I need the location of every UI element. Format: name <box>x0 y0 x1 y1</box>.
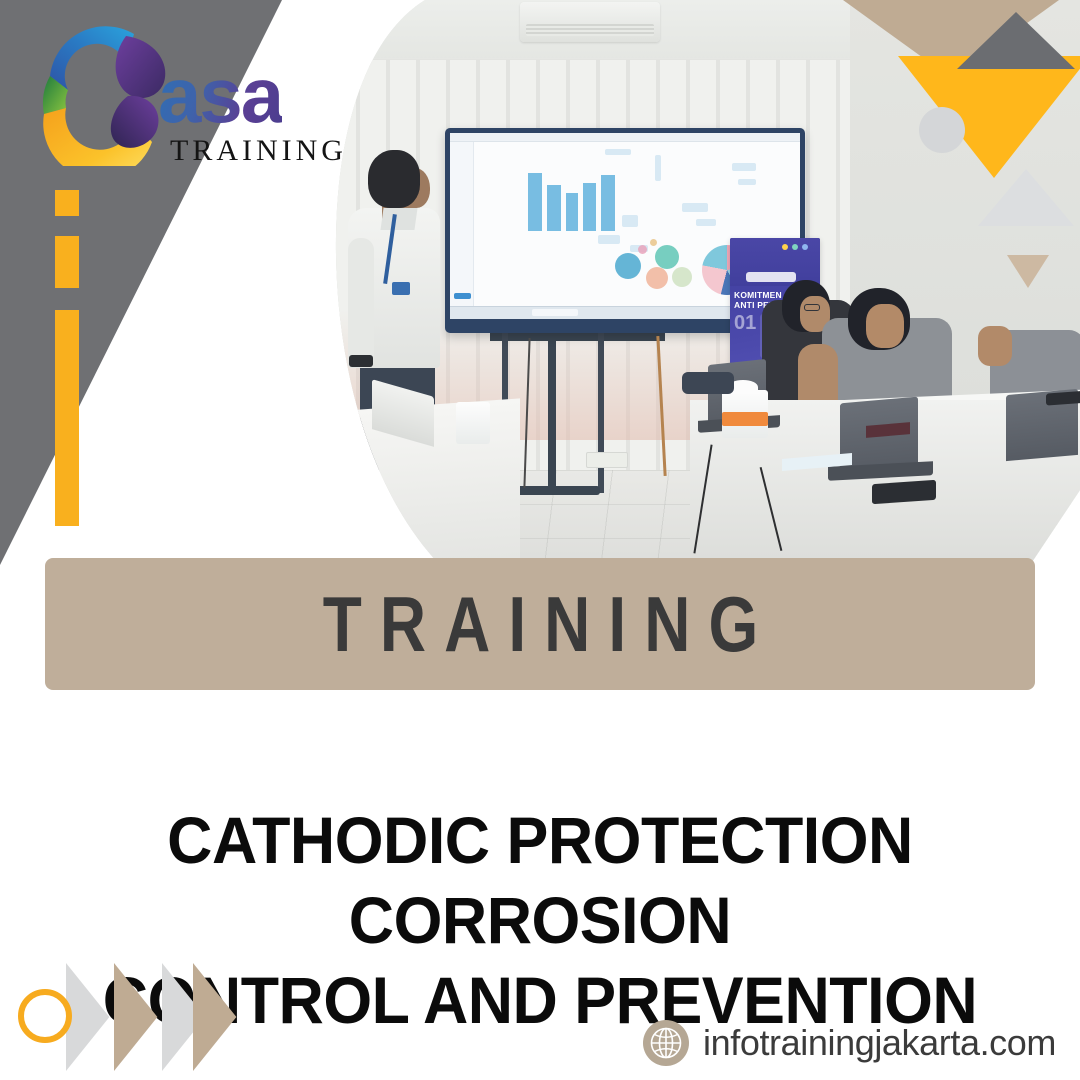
screen-bubble-3 <box>646 267 668 289</box>
participant-2-face <box>866 304 904 348</box>
presenter-head <box>368 150 420 208</box>
chevron-shape-4 <box>193 963 263 1071</box>
participant-1-glasses <box>804 304 820 311</box>
logo-wordmark: asa <box>158 56 282 134</box>
tissue-box-right-band <box>722 412 768 426</box>
screen-bar-5 <box>601 175 615 231</box>
screen-bubble-4 <box>672 267 692 287</box>
screen-button <box>454 293 471 299</box>
tv-stand-pole <box>548 333 556 493</box>
air-conditioner <box>520 2 660 42</box>
casa-circular-c-logo-icon <box>30 18 178 166</box>
website-url[interactable]: infotrainingjakarta.com <box>703 1022 1056 1064</box>
screen-chip-1 <box>622 215 638 227</box>
gray-triangle-up-icon <box>957 12 1075 69</box>
training-banner-label: TRAINING <box>304 579 775 670</box>
presenter-id-badge <box>392 282 410 295</box>
poster-dot-3 <box>802 244 808 250</box>
screen-bar-1 <box>528 173 542 231</box>
chevron-arrows-decoration <box>18 963 238 1073</box>
casa-training-logo: asa TRAINING <box>30 18 350 178</box>
light-gray-triangle-up-icon <box>978 169 1074 226</box>
website-footer[interactable]: infotrainingjakarta.com <box>643 1020 1056 1066</box>
screen-label-v <box>655 155 661 181</box>
screen-chip-6 <box>732 163 756 171</box>
screen-bubble-1 <box>615 253 641 279</box>
yellow-dash-medium <box>55 236 79 288</box>
participant-3-hand <box>978 326 1012 366</box>
screen-bubble-6 <box>650 239 657 246</box>
screen-chip-7 <box>738 179 756 185</box>
screen-chip-4 <box>682 203 708 212</box>
screen-chip-5 <box>696 219 716 226</box>
phone-far-right <box>1046 390 1080 405</box>
presenter-wristwatch <box>349 355 373 367</box>
presenter-collar <box>380 208 417 230</box>
yellow-ring-icon <box>18 989 72 1043</box>
wall-power-socket <box>586 452 628 468</box>
screen-bar-4 <box>583 183 596 231</box>
tissue-box-left <box>456 402 490 444</box>
screen-bubble-2 <box>655 245 679 269</box>
presenter-arm <box>348 238 374 368</box>
bag-on-table <box>682 372 734 394</box>
poster-step-1: 01 <box>734 312 756 335</box>
yellow-dash-short <box>55 190 79 216</box>
logo-subtitle: TRAINING <box>170 134 347 168</box>
tv-stand-arm <box>490 333 665 341</box>
screen-bubble-5 <box>638 245 647 254</box>
taskbar-search <box>532 309 578 316</box>
screen-bar-2 <box>547 185 561 231</box>
poster-dot-1 <box>782 244 788 250</box>
training-banner: TRAINING <box>45 558 1035 690</box>
screen-chip-2 <box>598 235 620 244</box>
poster-dot-2 <box>792 244 798 250</box>
screen-toolbar <box>450 133 800 142</box>
screen-title-chip <box>605 149 631 155</box>
screen-bar-3 <box>566 193 578 231</box>
globe-icon <box>643 1020 689 1066</box>
yellow-dash-long <box>55 310 79 526</box>
poster-logo-chip <box>746 272 796 282</box>
small-tan-triangle-down-icon <box>1007 255 1049 288</box>
tv-stand-leg-right <box>598 333 604 493</box>
gray-circle-icon <box>919 107 965 153</box>
chevron-arrow-4 <box>193 963 263 1071</box>
page-title-line-1: CATHODIC PROTECTION CORROSION <box>27 800 1053 960</box>
